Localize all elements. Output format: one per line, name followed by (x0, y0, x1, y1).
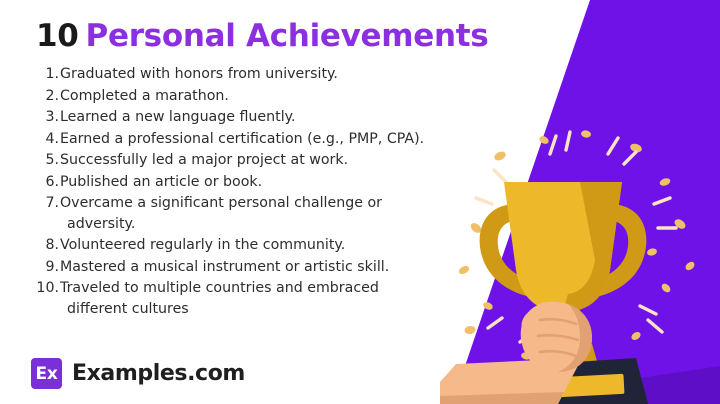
list-item: 6. Published an article or book. (34, 172, 454, 193)
brand-logo[interactable]: Ex Examples.com (31, 358, 245, 389)
brand-name: Examples.com (72, 361, 245, 386)
list-item: 2. Completed a marathon. (34, 86, 454, 107)
list-item-label: Earned a professional certification (e.g… (60, 131, 424, 147)
list-item-marker: 9. (34, 257, 60, 278)
page-title: 10Personal Achievements (36, 18, 488, 54)
list-item-marker: 5. (34, 150, 60, 171)
list-item-marker: 3. (34, 107, 60, 128)
list-item: 9. Mastered a musical instrument or arti… (34, 257, 454, 278)
list-item: 3. Learned a new language fluently. (34, 107, 454, 128)
list-item: 5. Successfully led a major project at w… (34, 150, 454, 171)
list-item-label: Traveled to multiple countries and embra… (60, 280, 379, 296)
list-item-marker: 4. (34, 129, 60, 150)
hand-holding-trophy-illustration (440, 120, 720, 404)
list-item-label: Learned a new language fluently. (60, 109, 296, 125)
list-item-label: Volunteered regularly in the community. (60, 237, 345, 253)
list-item-marker: 6. (34, 172, 60, 193)
list-item: 4. Earned a professional certification (… (34, 129, 454, 150)
list-item-label: Published an article or book. (60, 174, 262, 190)
list-item-label-continued: different cultures (60, 299, 454, 320)
list-item-marker: 2. (34, 86, 60, 107)
title-count: 10 (36, 18, 79, 54)
achievements-list: 1. Graduated with honors from university… (34, 64, 454, 320)
list-item-label: Graduated with honors from university. (60, 66, 338, 82)
list-item-marker: 1. (34, 64, 60, 85)
list-item-label: Overcame a significant personal challeng… (60, 195, 382, 211)
list-item-label: Completed a marathon. (60, 88, 229, 104)
list-item: 10. Traveled to multiple countries and e… (34, 278, 454, 319)
list-item: 7. Overcame a significant personal chall… (34, 193, 454, 234)
list-item-label: Successfully led a major project at work… (60, 152, 348, 168)
list-item-label-continued: adversity. (60, 214, 454, 235)
list-item-marker: 10. (34, 278, 60, 299)
list-item-label: Mastered a musical instrument or artisti… (60, 259, 389, 275)
list-item-marker: 8. (34, 235, 60, 256)
list-item: 8. Volunteered regularly in the communit… (34, 235, 454, 256)
slide-canvas: 10Personal Achievements 1. Graduated wit… (0, 0, 720, 404)
title-text: Personal Achievements (86, 18, 489, 54)
list-item-marker: 7. (34, 193, 60, 214)
list-item: 1. Graduated with honors from university… (34, 64, 454, 85)
examples-logo-icon: Ex (31, 358, 62, 389)
fist (521, 302, 592, 372)
